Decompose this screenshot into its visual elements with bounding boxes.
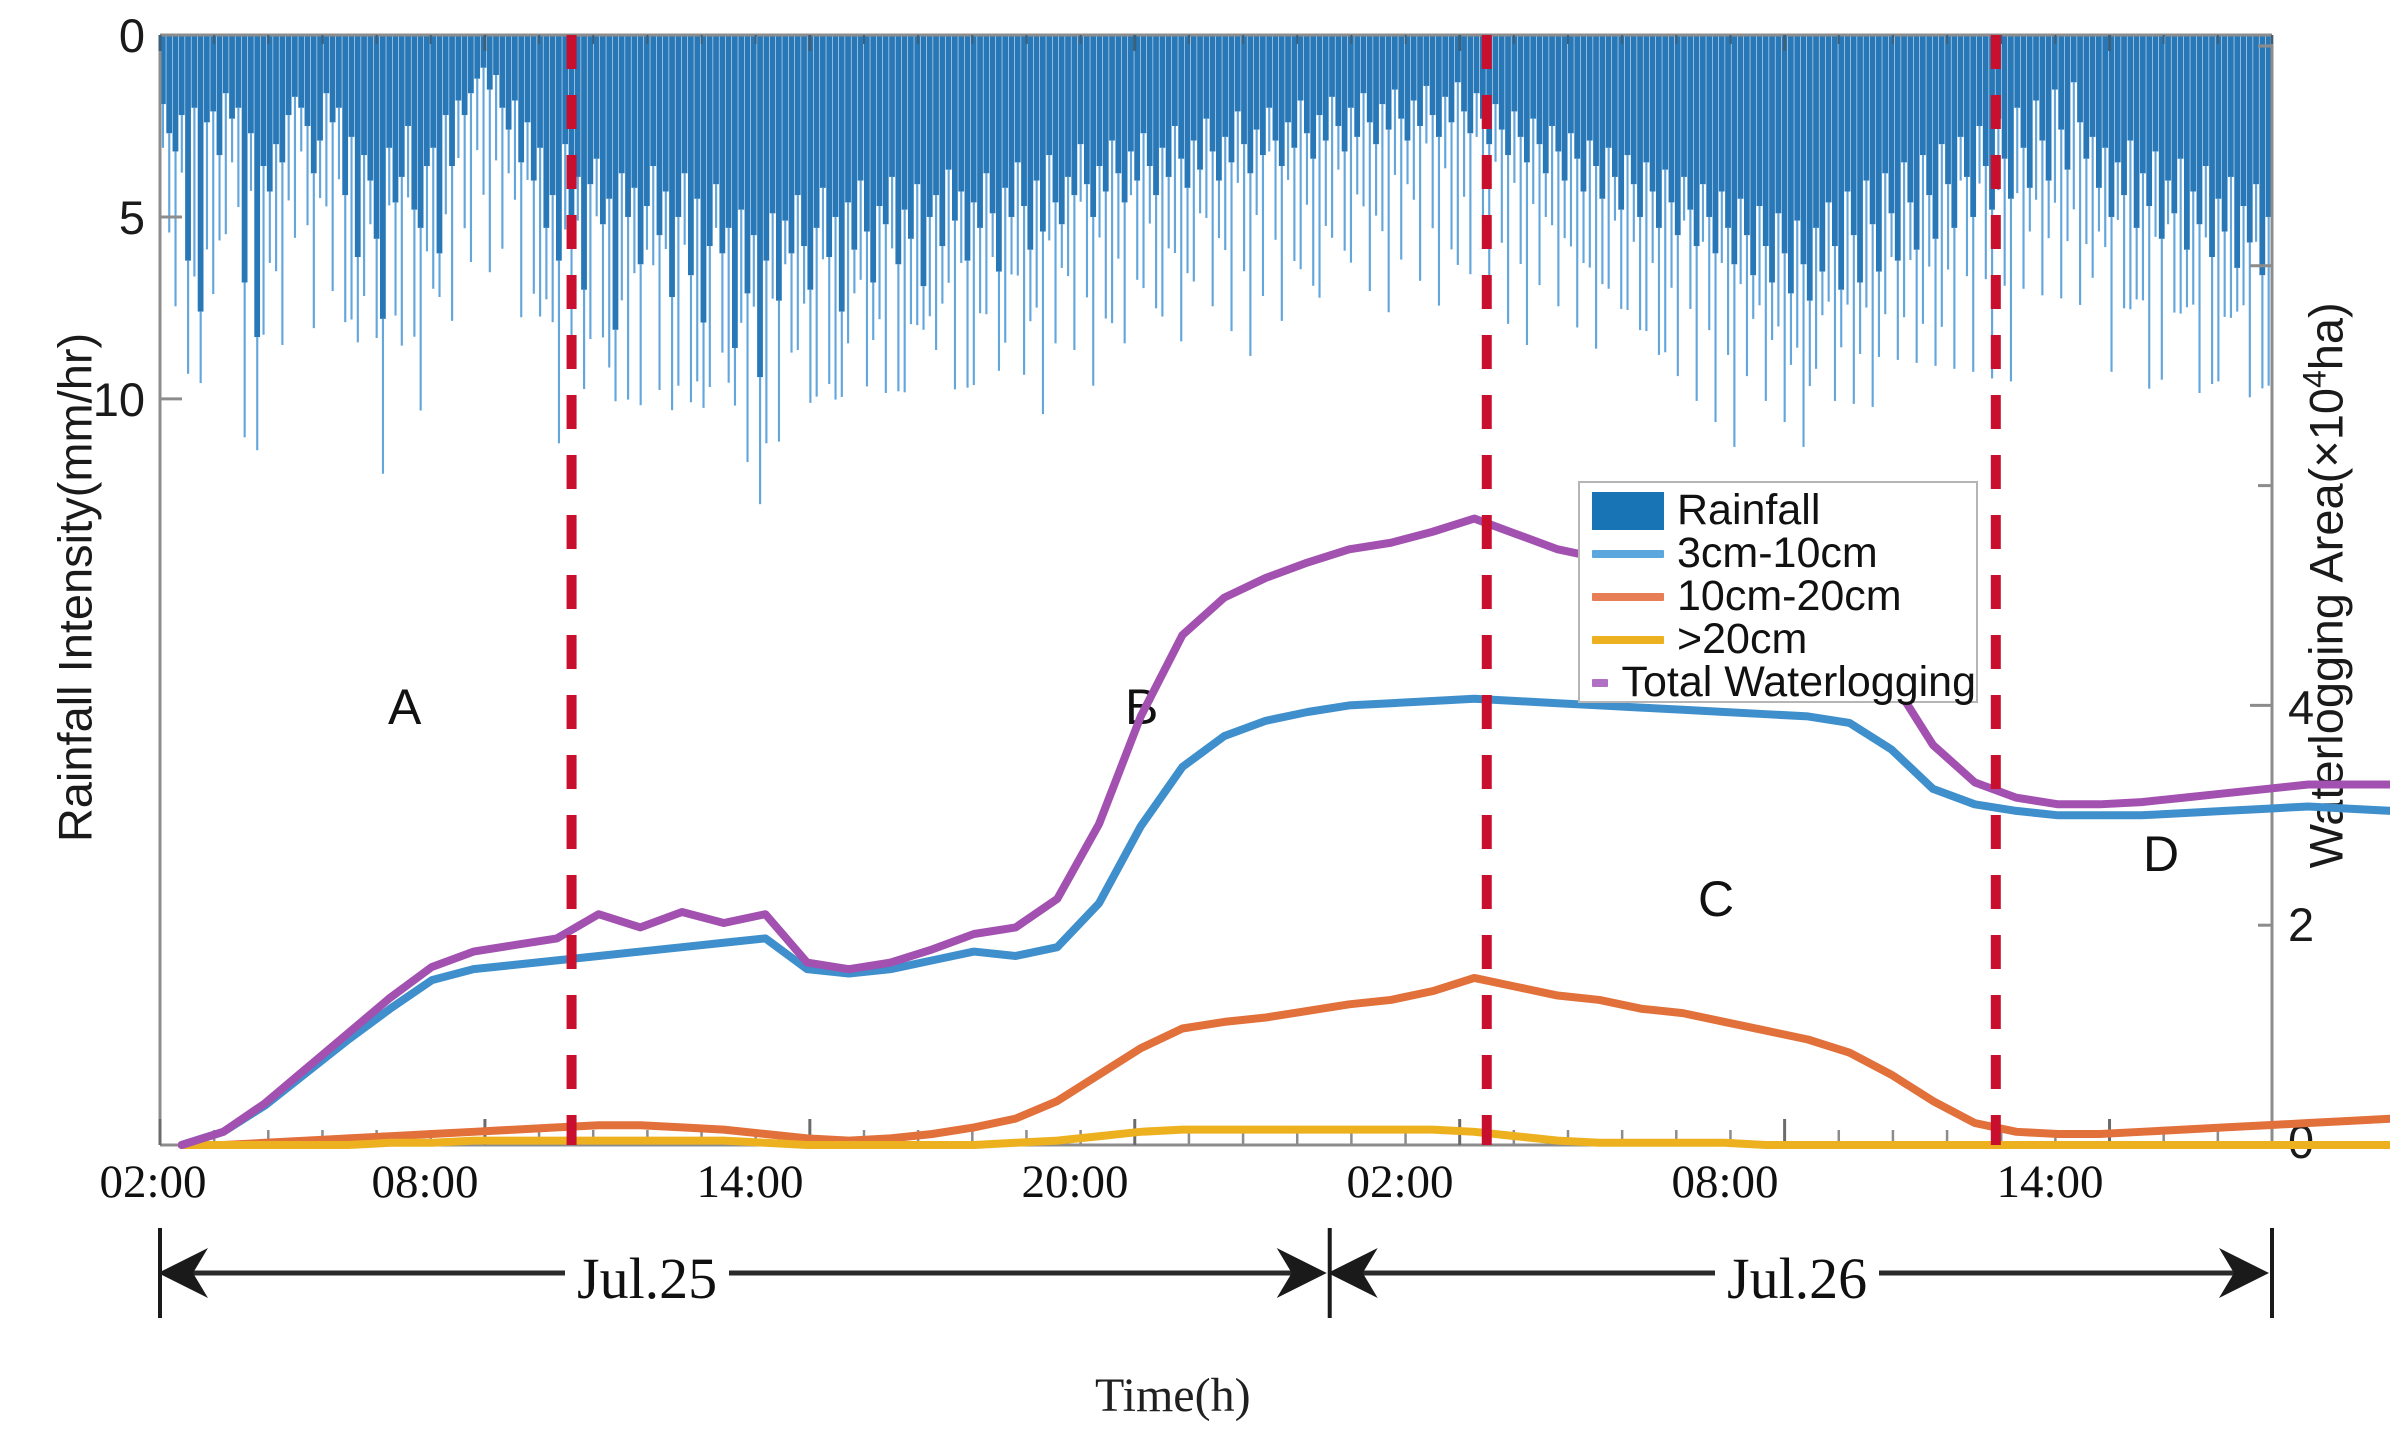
day-span-label-jul26: Jul.26: [1715, 1245, 1879, 1312]
line-swatch-10cm-20cm-icon: [1592, 593, 1664, 601]
legend-label-rainfall: Rainfall: [1677, 489, 1820, 532]
line-swatch-gt20cm-icon: [1592, 636, 1664, 644]
legend-label-10cm-20cm: 10cm-20cm: [1677, 575, 1902, 618]
rainfall-bars: [160, 35, 2271, 504]
legend-item-10cm-20cm[interactable]: 10cm-20cm: [1592, 575, 1976, 618]
series-line: [182, 798, 2390, 1145]
rainfall-swatch-icon: [1592, 492, 1664, 530]
legend: Rainfall 3cm-10cm 10cm-20cm >20cm Total …: [1578, 481, 1978, 703]
legend-item-total-waterlogging[interactable]: Total Waterlogging: [1592, 661, 1976, 704]
legend-item-rainfall[interactable]: Rainfall: [1592, 489, 1976, 532]
legend-item-3cm-10cm[interactable]: 3cm-10cm: [1592, 532, 1976, 575]
chart-figure: Rainfall Intensity(mm/hr) Waterlogging A…: [0, 0, 2390, 1448]
series-line: [182, 657, 2390, 1145]
legend-label-3cm-10cm: 3cm-10cm: [1677, 532, 1878, 575]
x-axis-title: Time(h): [1095, 1368, 1251, 1423]
legend-item-gt20cm[interactable]: >20cm: [1592, 618, 1976, 661]
day-span-label-jul25: Jul.25: [565, 1245, 729, 1312]
line-swatch-3cm-10cm-icon: [1592, 550, 1664, 558]
legend-label-total-waterlogging: Total Waterlogging: [1621, 661, 1976, 704]
series-line: [182, 1103, 2390, 1145]
legend-label-gt20cm: >20cm: [1677, 618, 1807, 661]
day-span-axis: [0, 1225, 2390, 1375]
line-swatch-total-icon: [1592, 679, 1608, 687]
